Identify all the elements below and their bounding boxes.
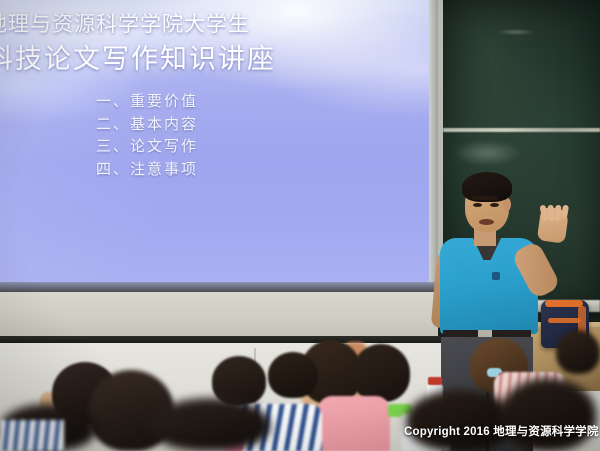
screen-frame-right <box>429 0 438 296</box>
slide-title: 地理与资源科学学院大学生 科技论文写作知识讲座 <box>0 8 386 79</box>
slide-bullet-3: 三、论文写作 <box>96 135 198 158</box>
backpack-strap <box>548 318 581 323</box>
presenter-finger <box>547 205 554 221</box>
chalk-mark <box>496 30 536 34</box>
presenter-eye <box>473 203 482 207</box>
student-head <box>268 352 318 398</box>
student-head-foreground <box>150 398 270 451</box>
student-head <box>352 344 410 402</box>
student-striped-shirt <box>0 420 64 451</box>
projection-screen: 地理与资源科学学院大学生 科技论文写作知识讲座 一、重要价值 二、基本内容 三、… <box>0 0 435 284</box>
classroom-lecture-photo: 地理与资源科学学院大学生 科技论文写作知识讲座 一、重要价值 二、基本内容 三、… <box>0 0 600 451</box>
screen-bottom-edge <box>0 282 435 292</box>
slide-bullet-4: 四、注意事项 <box>96 158 198 181</box>
backpack-strap <box>545 300 583 307</box>
slide-bullet-list: 一、重要价值 二、基本内容 三、论文写作 四、注意事项 <box>96 90 198 180</box>
water-bottle-cap <box>428 377 442 385</box>
student-head-foreground <box>406 390 514 451</box>
copyright-watermark: Copyright 2016 地理与资源科学学院 <box>404 423 599 439</box>
student-head-foreground <box>500 378 596 451</box>
student-pink-shirt <box>318 396 390 451</box>
presenter-shirt-logo <box>492 272 500 280</box>
slide-title-line-1: 地理与资源科学学院大学生 <box>0 12 250 36</box>
chalkboard-rail <box>443 128 600 132</box>
wall-panel <box>0 292 438 338</box>
presenter-mouth <box>479 219 494 225</box>
slide-bullet-2: 二、基本内容 <box>96 113 198 136</box>
slide-title-line-2: 科技论文写作知识讲座 <box>0 41 386 79</box>
student-head <box>556 330 600 374</box>
slide-bullet-1: 一、重要价值 <box>96 90 198 113</box>
chalk-smudge <box>452 140 522 166</box>
presenter-eye <box>490 203 499 207</box>
presenter-eyebrow <box>472 196 498 200</box>
presenter-finger <box>555 205 562 221</box>
